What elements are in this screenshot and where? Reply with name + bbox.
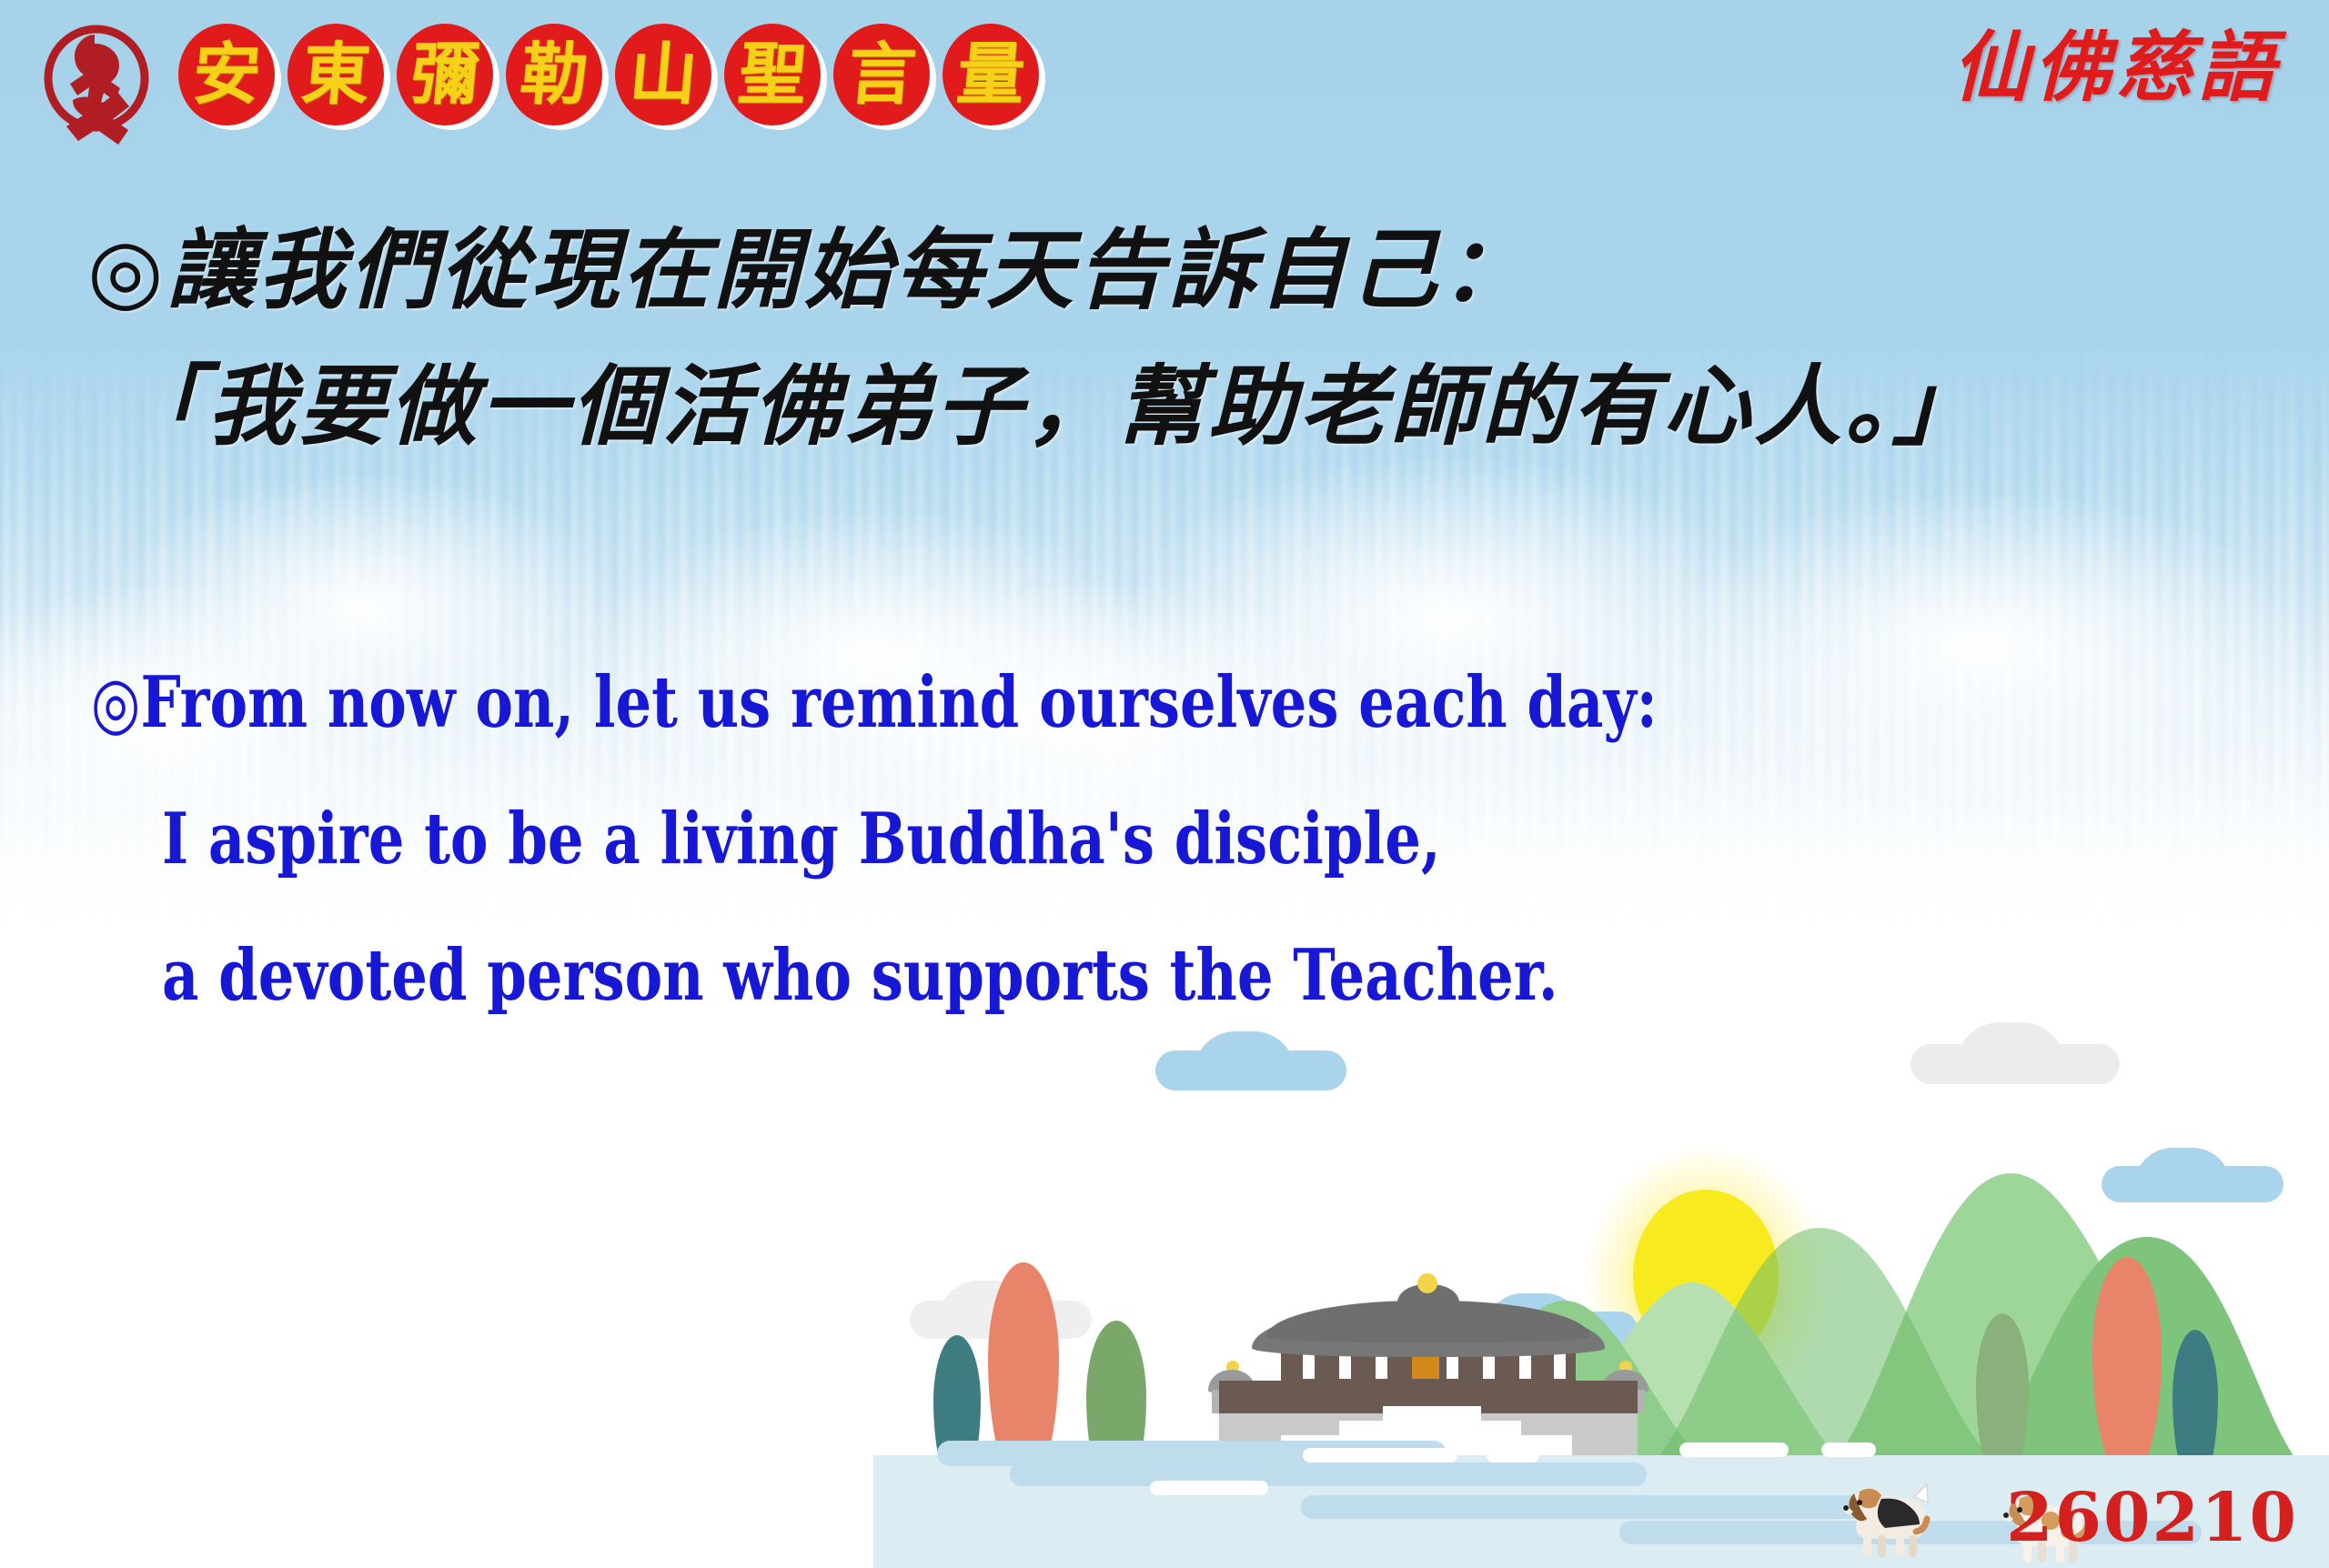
serial-number: 260210 — [2006, 1484, 2298, 1552]
badge-char-3: 彌 — [397, 24, 493, 126]
badge-char-label: 山 — [627, 41, 700, 108]
badge-char-label: 言 — [845, 41, 918, 108]
badge-char-label: 勒 — [518, 41, 590, 108]
water-wave — [1301, 1495, 1865, 1519]
badge-row: 安 東 彌 勒 山 聖 言 量 — [178, 24, 1039, 126]
water-ripple — [1487, 1448, 1539, 1462]
badge-char-1: 安 — [178, 24, 275, 126]
badge-char-2: 東 — [287, 24, 384, 126]
badge-char-4: 勒 — [506, 24, 602, 126]
temple-finial-icon — [1417, 1273, 1437, 1293]
temple-building — [1219, 1273, 1638, 1464]
badge-char-label: 安 — [190, 41, 263, 108]
english-text-block: ◎From now on, let us remind ourselves ea… — [0, 635, 2329, 1044]
english-line-2: I aspire to be a living Buddha's discipl… — [162, 771, 1896, 908]
chinese-line-1: ◎讓我們從現在開始每天告訴自己： — [87, 202, 2329, 338]
english-line-3: a devoted person who supports the Teache… — [162, 908, 1896, 1044]
chinese-line-2: 「我要做一個活佛弟子，幫助老師的有心人。」 — [116, 338, 2329, 475]
badge-char-5: 山 — [615, 24, 711, 126]
maitreya-logo-icon — [27, 20, 164, 155]
water-ripple — [1821, 1442, 1876, 1457]
badge-char-label: 量 — [954, 41, 1027, 108]
poster-canvas: 安 東 彌 勒 山 聖 言 量 仙佛慈語 ◎讓我們從現在開始每天告訴自己： 「我… — [0, 0, 2329, 1568]
badge-char-6: 聖 — [724, 24, 821, 126]
header: 安 東 彌 勒 山 聖 言 量 仙佛慈語 — [0, 0, 2329, 164]
badge-char-label: 東 — [299, 41, 372, 108]
chinese-text-block: ◎讓我們從現在開始每天告訴自己： 「我要做一個活佛弟子，幫助老師的有心人。」 — [0, 202, 2329, 475]
water-ripple — [1303, 1448, 1457, 1462]
beagle-dog-icon — [1836, 1483, 1936, 1561]
english-line-1: ◎From now on, let us remind ourselves ea… — [91, 635, 1881, 771]
badge-char-8: 量 — [943, 24, 1039, 126]
water-wave — [1010, 1462, 1647, 1486]
badge-char-label: 彌 — [408, 41, 481, 108]
badge-char-7: 言 — [833, 24, 930, 126]
corner-title: 仙佛慈語 — [1952, 25, 2280, 109]
badge-char-label: 聖 — [736, 41, 809, 108]
water-ripple — [1150, 1481, 1268, 1495]
water-ripple — [1679, 1442, 1789, 1457]
